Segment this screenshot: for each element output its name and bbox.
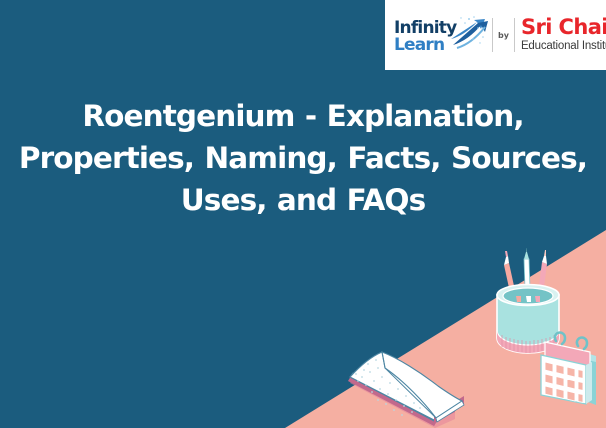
arrow-swoosh-icon	[447, 15, 489, 55]
infinity-learn-logo: Infinity Learn	[394, 13, 490, 57]
brand-logo-card: Infinity Learn by Sri Cha	[385, 0, 606, 70]
sri-chaitanya-name: Sri Chaitanya	[521, 17, 606, 38]
article-banner: Infinity Learn by Sri Cha	[0, 0, 606, 428]
sri-chaitanya-logo: Sri Chaitanya Educational Institutions	[521, 17, 606, 53]
logo-by-label: by	[498, 31, 509, 40]
banner-title-wrapper: Roentgenium - Explanation, Properties, N…	[0, 96, 606, 222]
infinity-learn-line2: Learn	[394, 37, 444, 54]
sri-chaitanya-subtitle: Educational Institutions	[521, 40, 606, 53]
logo-divider-right	[514, 18, 515, 52]
page-title: Roentgenium - Explanation, Properties, N…	[14, 96, 592, 222]
logo-divider-left	[492, 18, 493, 52]
